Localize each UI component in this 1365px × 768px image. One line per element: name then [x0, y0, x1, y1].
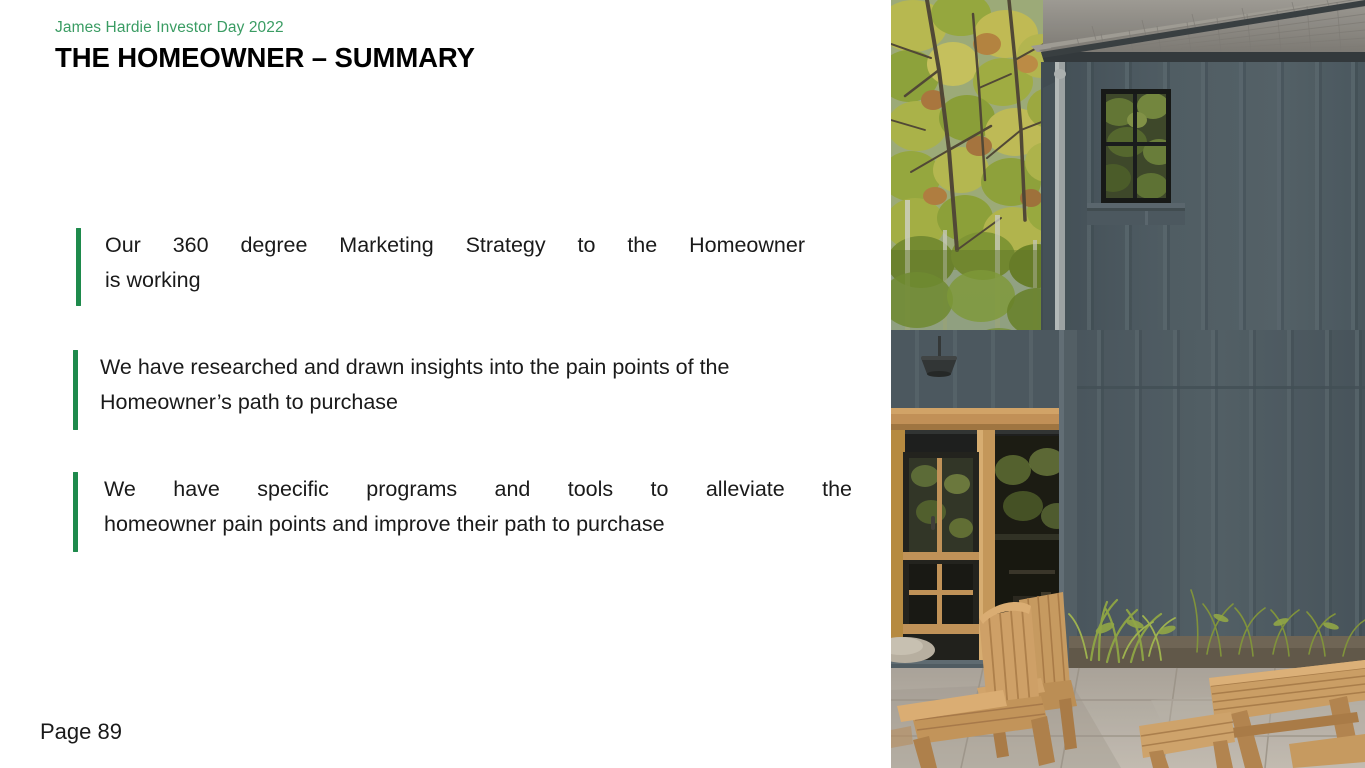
eyebrow-text: James Hardie Investor Day 2022: [55, 18, 855, 38]
bullet-text-3: We have specific programs and tools to a…: [78, 472, 852, 552]
bullet-block-2: We have researched and drawn insights in…: [73, 350, 868, 430]
bullet-text-3-line-1: We have specific programs and tools to a…: [104, 472, 852, 507]
bullet-text-1: Our 360 degree Marketing Strategy to the…: [81, 228, 805, 306]
slide-header: James Hardie Investor Day 2022 THE HOMEO…: [55, 18, 855, 75]
content-area: James Hardie Investor Day 2022 THE HOMEO…: [0, 0, 891, 768]
bullet-text-2-line-1: We have researched and drawn insights in…: [100, 350, 868, 385]
bullet-text-2-line-2: Homeowner’s path to purchase: [100, 385, 868, 420]
hero-photo: [891, 0, 1365, 768]
slide-canvas: James Hardie Investor Day 2022 THE HOMEO…: [0, 0, 1365, 768]
bullet-block-3: We have specific programs and tools to a…: [73, 472, 853, 552]
bullet-block-1: Our 360 degree Marketing Strategy to the…: [76, 228, 806, 306]
bullet-text-2: We have researched and drawn insights in…: [78, 350, 868, 430]
page-title: THE HOMEOWNER – SUMMARY: [55, 41, 855, 75]
bullet-text-3-line-2: homeowner pain points and improve their …: [104, 507, 852, 542]
bullet-text-1-line-2: is working: [105, 263, 805, 298]
house-exterior-illustration: [891, 0, 1365, 768]
bullet-text-1-line-1: Our 360 degree Marketing Strategy to the…: [105, 228, 805, 263]
page-number-label: Page 89: [40, 718, 122, 746]
